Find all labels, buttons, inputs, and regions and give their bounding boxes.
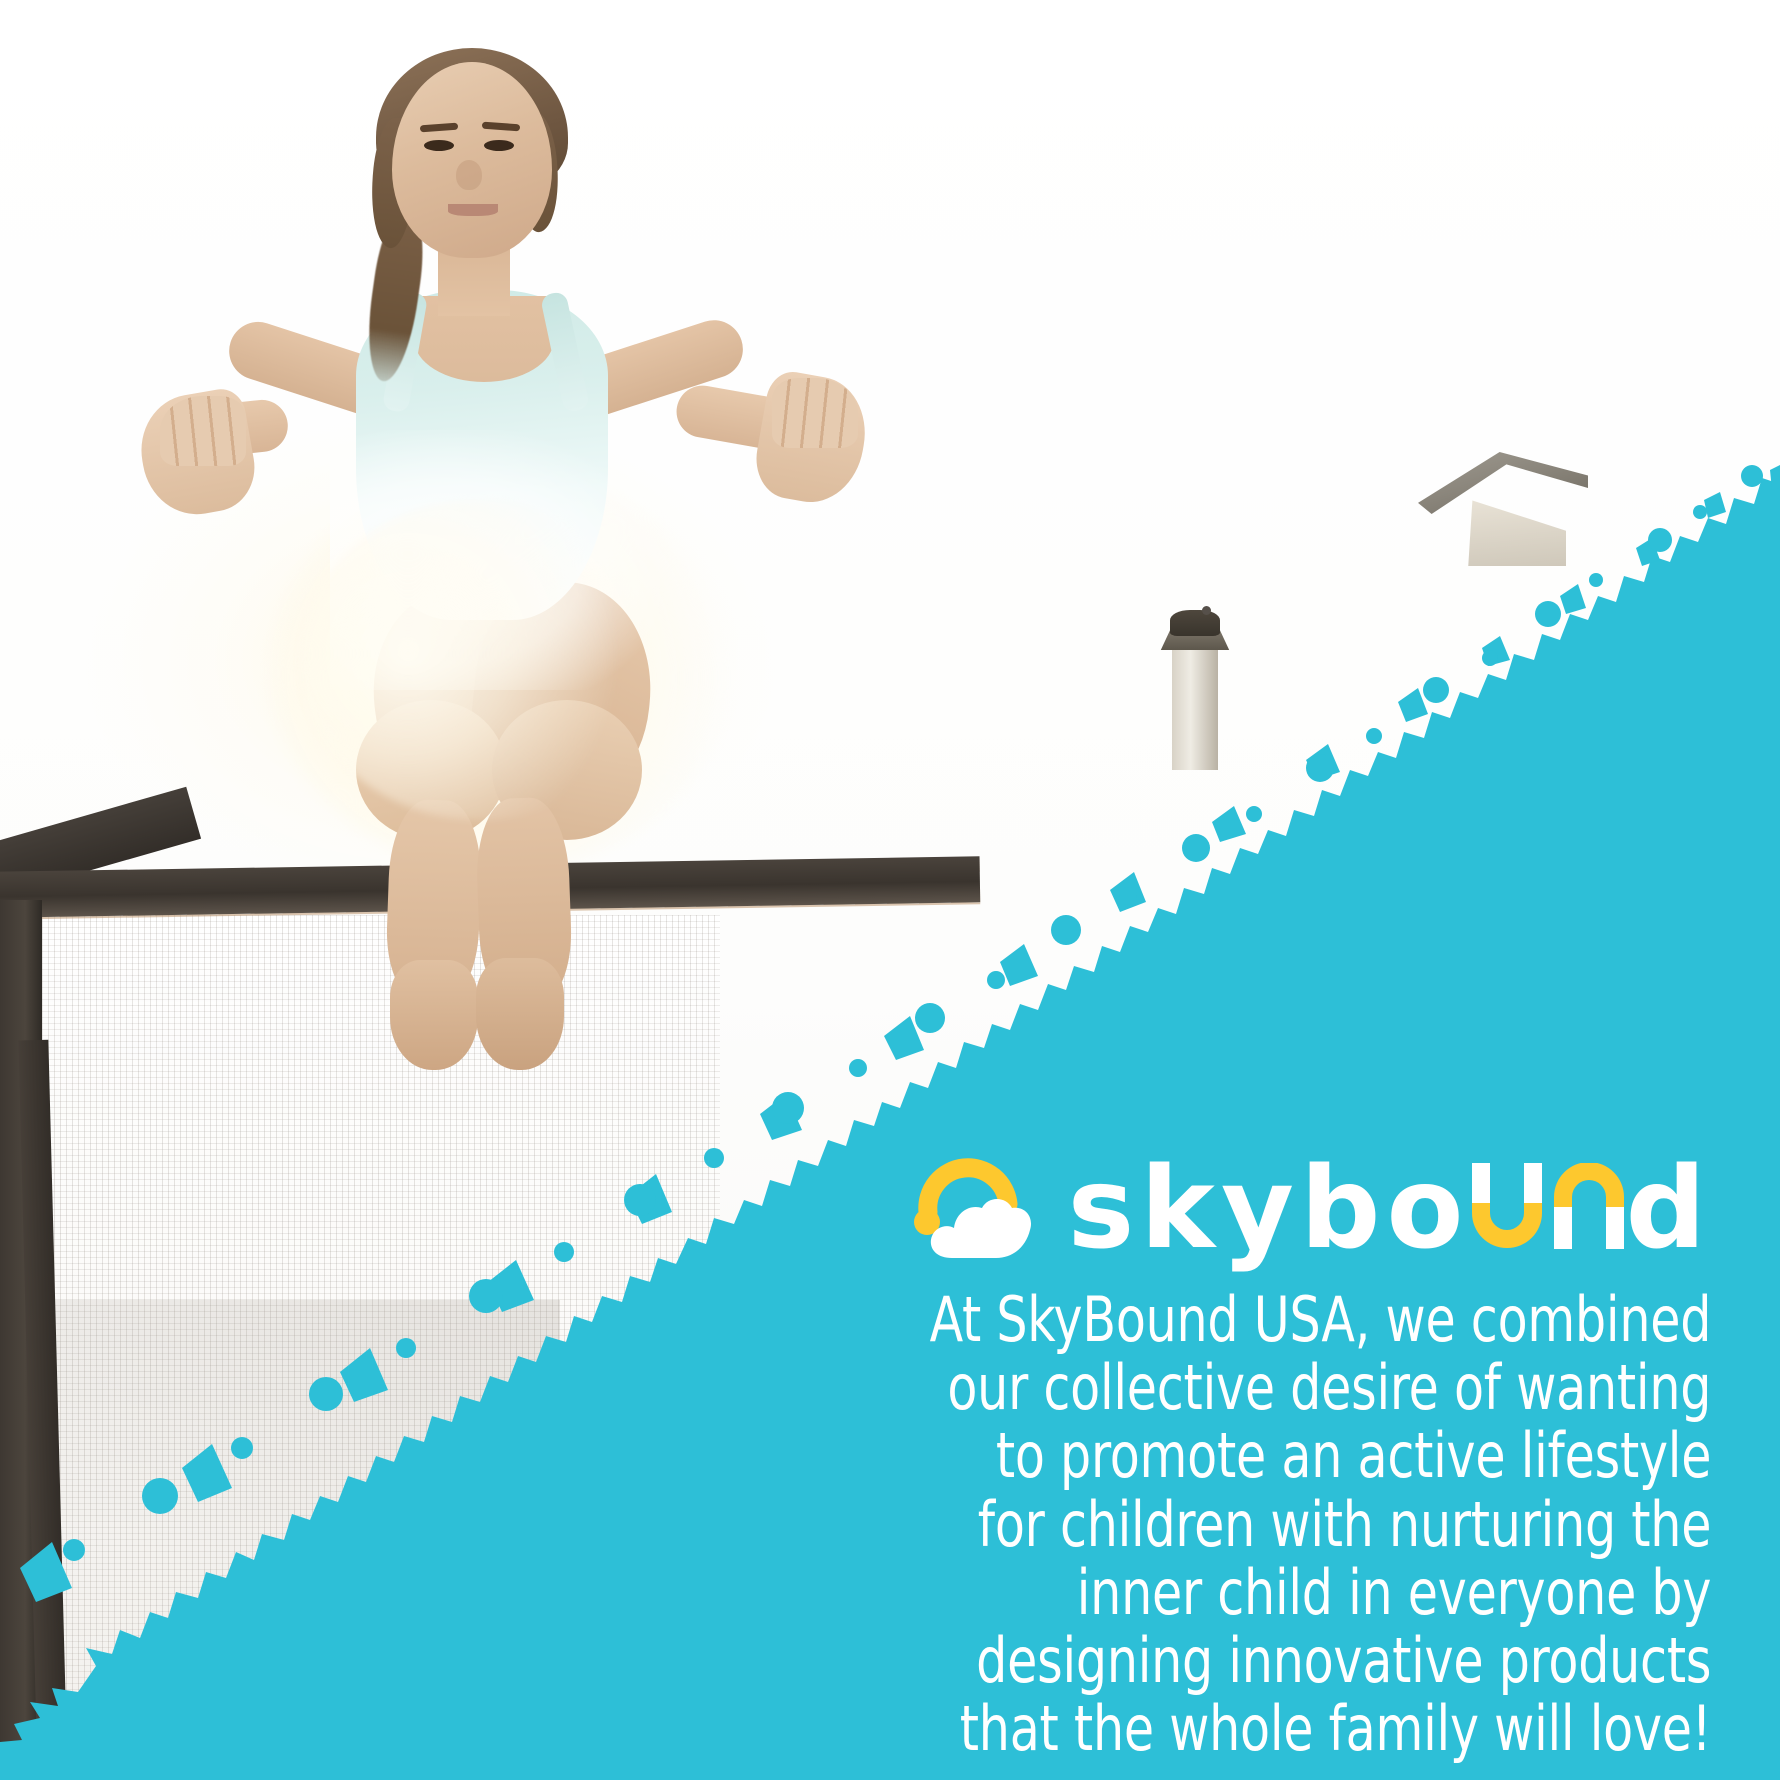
brand-block: skybo d At SkyBound USA, we combined: [660, 1150, 1720, 1763]
wordmark-letter-u: [1470, 1161, 1544, 1247]
wordmark-letter-n: [1552, 1161, 1626, 1247]
tagline-line: to promote an active lifestyle: [787, 1422, 1711, 1490]
wordmark-segment-3: d: [1626, 1153, 1712, 1265]
tagline-line: that the whole family will love!: [787, 1695, 1711, 1763]
tagline-line: our collective desire of wanting: [787, 1354, 1711, 1422]
skybound-logo[interactable]: skybo d: [660, 1150, 1720, 1268]
skybound-wordmark: skybo d: [1068, 1153, 1712, 1265]
tagline-line: designing innovative products: [787, 1627, 1711, 1695]
social-graphic-canvas: skybo d At SkyBound USA, we combined: [0, 0, 1780, 1780]
tagline-line: inner child in everyone by: [787, 1559, 1711, 1627]
tagline-paragraph: At SkyBound USA, we combined our collect…: [787, 1286, 1720, 1763]
sun-cloud-icon: [910, 1150, 1042, 1268]
tagline-line: At SkyBound USA, we combined: [787, 1286, 1711, 1354]
tagline-line: for children with nurturing the: [787, 1491, 1711, 1559]
wordmark-segment-2: ybo: [1221, 1153, 1470, 1265]
wordmark-segment-1: sk: [1068, 1153, 1221, 1265]
